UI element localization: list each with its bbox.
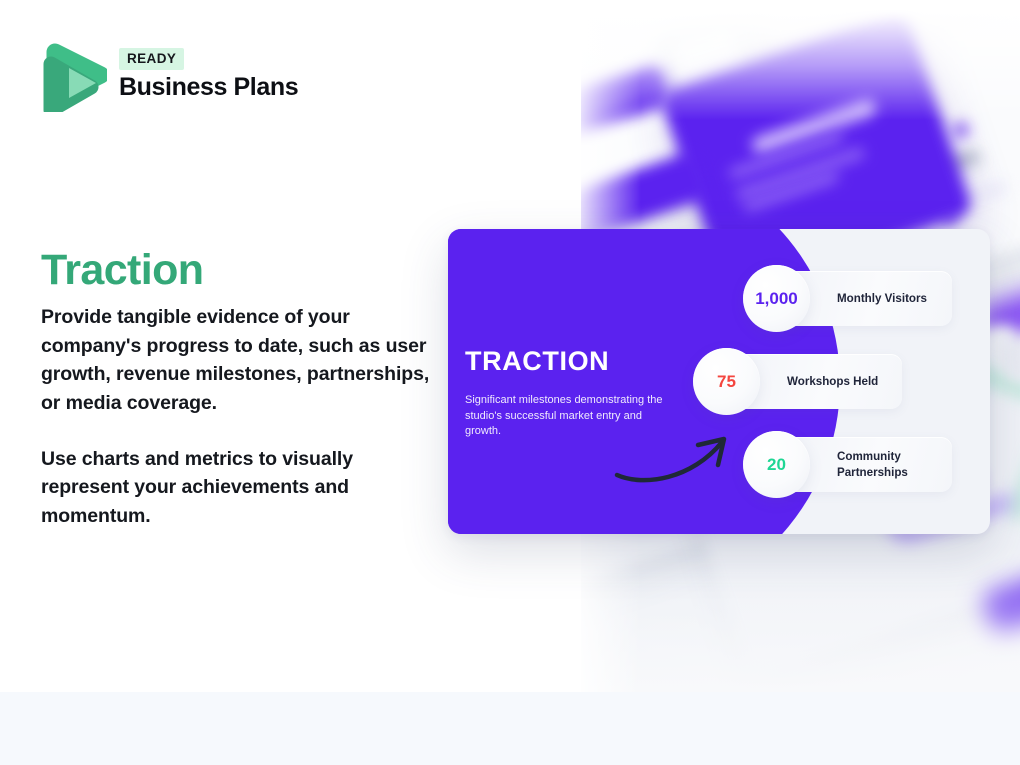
curved-growth-arrow-icon: [614, 427, 739, 487]
metric-label: Workshops Held: [787, 374, 878, 389]
metric-value-badge: 1,000: [743, 265, 810, 332]
body-copy: Provide tangible evidence of your compan…: [41, 303, 433, 531]
traction-slide-card[interactable]: TRACTION Significant milestones demonstr…: [448, 229, 990, 534]
brand-text: READY Business Plans: [119, 48, 298, 102]
play-triangle-logo-icon: [41, 38, 107, 112]
slide-preview-page: READY Business Plans Traction Provide ta…: [0, 0, 1020, 765]
brand-lockup: READY Business Plans: [41, 38, 298, 112]
metric-value: 20: [767, 455, 786, 475]
body-paragraph-1: Provide tangible evidence of your compan…: [41, 303, 433, 418]
metric-value: 1,000: [755, 289, 798, 309]
metric-item[interactable]: Monthly Visitors 1,000: [743, 271, 952, 326]
metric-item[interactable]: Workshops Held 75: [693, 354, 902, 409]
footer-band: [0, 692, 1020, 765]
metric-value-badge: 75: [693, 348, 760, 415]
metric-value-badge: 20: [743, 431, 810, 498]
body-paragraph-2: Use charts and metrics to visually repre…: [41, 445, 433, 531]
metric-value: 75: [717, 372, 736, 392]
ready-badge: READY: [119, 48, 184, 70]
page-title: Traction: [41, 247, 203, 294]
metric-item[interactable]: Community Partnerships 20: [743, 437, 952, 492]
brand-name: Business Plans: [119, 72, 298, 102]
metric-label: Community Partnerships: [837, 449, 908, 479]
slide-title: TRACTION: [465, 348, 609, 375]
metrics-list: Monthly Visitors 1,000 Workshops Held 75…: [743, 229, 990, 534]
metric-label: Monthly Visitors: [837, 291, 927, 306]
